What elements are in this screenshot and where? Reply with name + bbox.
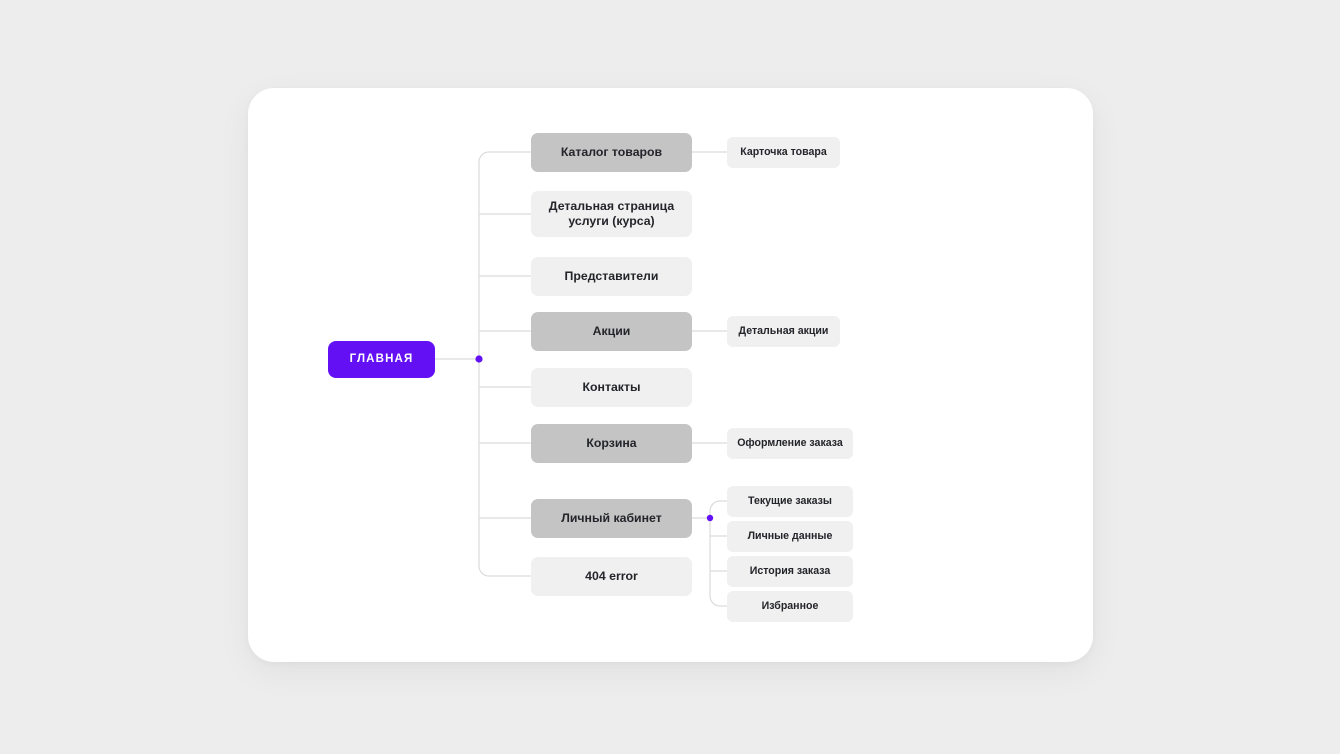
node-service-detail-page[interactable]: Детальная страница услуги (курса): [531, 191, 692, 237]
node-cart[interactable]: Корзина: [531, 424, 692, 463]
node-order-history[interactable]: История заказа: [727, 556, 853, 587]
node-favorites[interactable]: Избранное: [727, 591, 853, 622]
node-contacts[interactable]: Контакты: [531, 368, 692, 407]
node-404-error[interactable]: 404 error: [531, 557, 692, 596]
diagram-canvas: ГЛАВНАЯ Каталог товаров Детальная страни…: [0, 0, 1340, 754]
node-checkout[interactable]: Оформление заказа: [727, 428, 853, 459]
node-root-main[interactable]: ГЛАВНАЯ: [328, 341, 435, 378]
node-personal-data[interactable]: Личные данные: [727, 521, 853, 552]
node-representatives[interactable]: Представители: [531, 257, 692, 296]
node-promotion-detail[interactable]: Детальная акции: [727, 316, 840, 347]
node-product-card[interactable]: Карточка товара: [727, 137, 840, 168]
node-personal-account[interactable]: Личный кабинет: [531, 499, 692, 538]
node-promotions[interactable]: Акции: [531, 312, 692, 351]
node-current-orders[interactable]: Текущие заказы: [727, 486, 853, 517]
node-catalog[interactable]: Каталог товаров: [531, 133, 692, 172]
